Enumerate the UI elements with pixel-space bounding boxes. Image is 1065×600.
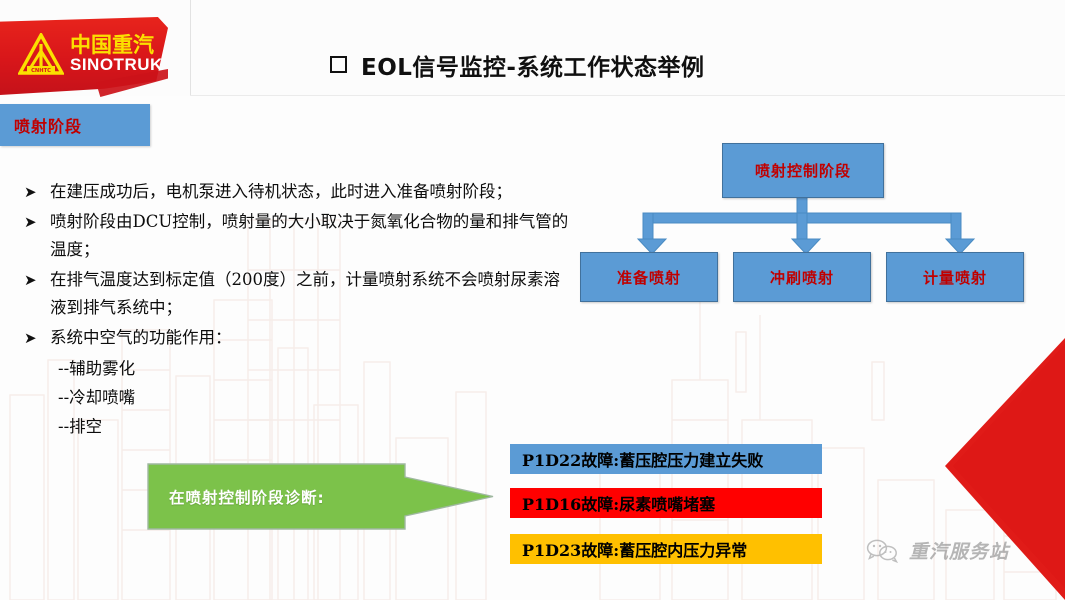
page-title: EOL信号监控-系统工作状态举例 (330, 48, 704, 82)
phase-tab-injection[interactable]: 喷射阶段 (0, 104, 150, 146)
sub-item: --辅助雾化 (24, 354, 569, 383)
slide-canvas: CNHTC 中国重汽 SINOTRUK 喷射阶段 EOL信号监控-系统工作状态举… (0, 0, 1065, 600)
flow-node-child-1[interactable]: 准备喷射 (580, 252, 718, 302)
injection-control-flowchart: 喷射控制阶段 准备喷射 冲刷喷射 计量喷射 (570, 130, 1050, 310)
logo-chinese-name: 中国重汽 (70, 34, 154, 56)
cnhtc-emblem-icon: CNHTC (18, 33, 64, 77)
fault-bar[interactable]: P1D23故障:蓄压腔内压力异常 (510, 534, 822, 564)
wechat-icon (866, 539, 900, 563)
list-item: ➤ 喷射阶段由DCU控制，喷射量的大小取决于氮氧化合物的量和排气管的温度； (24, 208, 569, 264)
arrow-bullet-icon: ➤ (24, 324, 37, 352)
bullet-list: ➤ 在建压成功后，电机泵进入待机状态，此时进入准备喷射阶段； ➤ 喷射阶段由DC… (24, 178, 569, 441)
page-title-text: EOL信号监控-系统工作状态举例 (361, 55, 704, 81)
wechat-watermark: 重汽服务站 (866, 537, 1009, 564)
diagnosis-arrow-callout[interactable]: 在喷射控制阶段诊断: (147, 463, 495, 530)
flow-node-child-3[interactable]: 计量喷射 (886, 252, 1024, 302)
sub-item: --排空 (24, 412, 569, 441)
logo-english-name: SINOTRUK (70, 56, 163, 74)
bullet-text: 喷射阶段由DCU控制，喷射量的大小取决于氮氧化合物的量和排气管的温度； (50, 212, 568, 259)
flow-node-child-2[interactable]: 冲刷喷射 (733, 252, 871, 302)
phase-tab-label: 喷射阶段 (14, 113, 82, 137)
fault-bar[interactable]: P1D16故障:尿素喷嘴堵塞 (510, 488, 822, 518)
list-item: ➤ 在排气温度达到标定值（200度）之前，计量喷射系统不会喷射尿素溶液到排气系统… (24, 266, 569, 322)
diagnosis-arrow-label: 在喷射控制阶段诊断: (169, 463, 419, 530)
flow-node-child-1-label: 准备喷射 (617, 267, 681, 288)
list-item: ➤ 系统中空气的功能作用： (24, 324, 569, 352)
list-item: ➤ 在建压成功后，电机泵进入待机状态，此时进入准备喷射阶段； (24, 178, 569, 206)
header-divider (190, 0, 191, 96)
sub-item: --冷却喷嘴 (24, 383, 569, 412)
arrow-bullet-icon: ➤ (24, 178, 37, 206)
bullet-text: 在建压成功后，电机泵进入待机状态，此时进入准备喷射阶段； (50, 182, 512, 201)
sinotruk-logo: CNHTC 中国重汽 SINOTRUK (0, 17, 168, 95)
flow-node-root-label: 喷射控制阶段 (755, 160, 851, 181)
flow-node-child-3-label: 计量喷射 (923, 267, 987, 288)
arrow-bullet-icon: ➤ (24, 208, 37, 236)
bullet-square-icon (330, 56, 347, 73)
header-bottom-rule (190, 95, 1065, 96)
fault-bar[interactable]: P1D22故障:蓄压腔压力建立失败 (510, 444, 822, 474)
flow-node-root[interactable]: 喷射控制阶段 (722, 143, 884, 198)
flow-node-child-2-label: 冲刷喷射 (770, 267, 834, 288)
arrow-bullet-icon: ➤ (24, 266, 37, 294)
bullet-text: 系统中空气的功能作用： (50, 328, 232, 347)
svg-text:CNHTC: CNHTC (31, 68, 51, 74)
wechat-watermark-text: 重汽服务站 (909, 537, 1009, 564)
bullet-text: 在排气温度达到标定值（200度）之前，计量喷射系统不会喷射尿素溶液到排气系统中； (50, 270, 560, 317)
